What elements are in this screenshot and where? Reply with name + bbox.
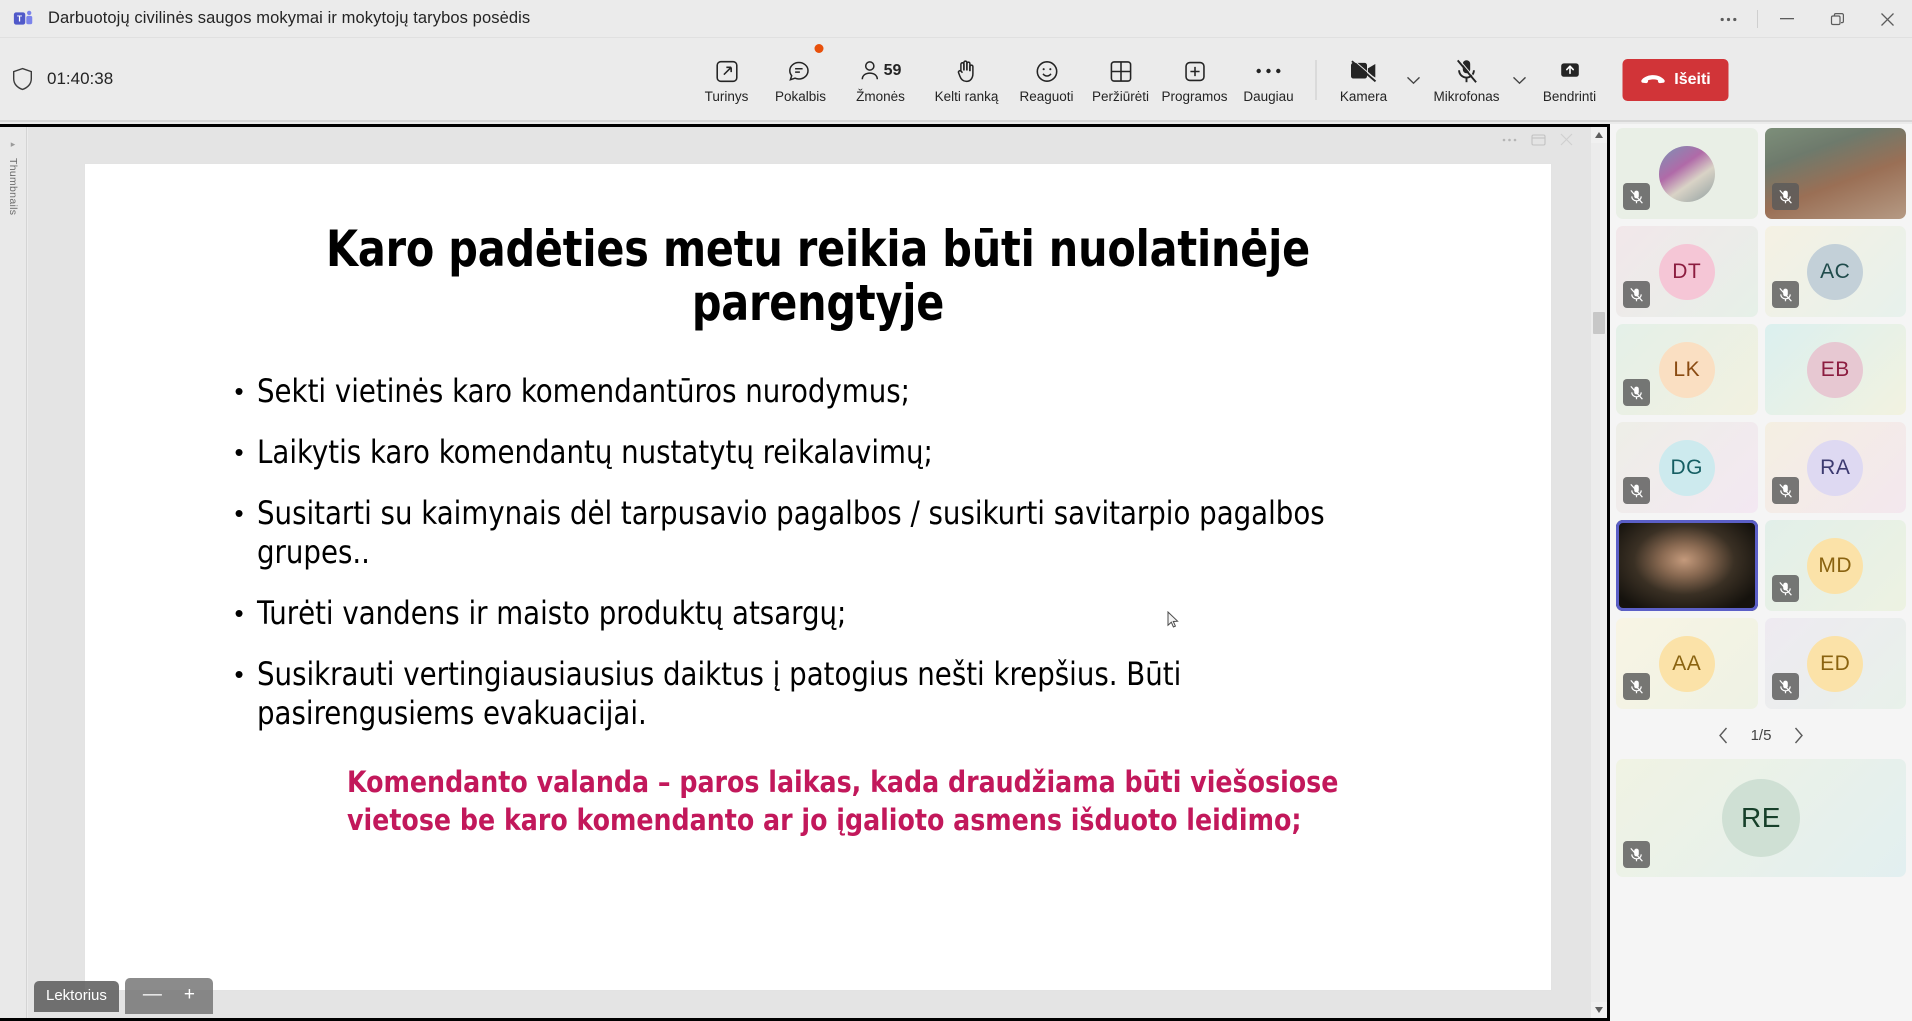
toolbar-label: Žmonės (856, 89, 905, 104)
participant-tile[interactable]: DG (1616, 422, 1758, 513)
bullet-text: Sekti vietinės karo komendantūros nurody… (257, 372, 910, 411)
avatar-initials: AA (1672, 652, 1701, 676)
meeting-timer: 01:40:38 (47, 69, 113, 89)
leave-button-label: Išeiti (1674, 71, 1710, 89)
avatar-initials: RE (1741, 802, 1781, 834)
bullet-text: Laikytis karo komendantų nustatytų reika… (257, 433, 933, 472)
more-ellipsis-icon (1256, 56, 1282, 86)
title-bar: T Darbuotojų civilinės saugos mokymai ir… (0, 0, 1912, 38)
popout-icon[interactable] (1531, 134, 1546, 146)
participants-grid: DT AC (1616, 128, 1906, 709)
microphone-dropdown-chevron-down-icon[interactable] (1507, 42, 1533, 118)
toolbar-button-pokalbis[interactable]: Pokalbis (764, 42, 838, 118)
avatar-initials: DG (1671, 456, 1704, 480)
chevron-left-icon[interactable] (1712, 723, 1735, 748)
chat-bubble-icon (788, 56, 814, 86)
toolbar-label: Mikrofonas (1433, 89, 1499, 104)
stage-bottom-controls: Lektorius — + (34, 978, 213, 1014)
participant-tile[interactable]: RA (1765, 422, 1907, 513)
avatar: EB (1807, 342, 1863, 398)
mic-muted-icon (1623, 477, 1650, 504)
toolbar-divider (1316, 60, 1317, 100)
slide-title: Karo padėties metu reikia būti nuolatinė… (198, 222, 1436, 330)
participant-tile[interactable] (1616, 128, 1758, 219)
avatar: ED (1807, 636, 1863, 692)
bullet-dot-icon: • (235, 439, 244, 465)
thumbnails-label: Thumbnails (7, 158, 19, 215)
avatar: DG (1659, 440, 1715, 496)
share-arrow-up-icon (1557, 56, 1582, 86)
toolbar-button-daugiau[interactable]: Daugiau (1232, 42, 1306, 118)
teams-logo-icon: T (12, 8, 34, 30)
presenter-pill[interactable]: Lektorius (34, 981, 119, 1012)
toolbar-button-zmones[interactable]: 59 Žmonės (838, 42, 924, 118)
apps-plus-icon (1182, 56, 1207, 86)
thumbnails-rail[interactable]: ▸ Thumbnails (0, 127, 27, 1018)
avatar: RE (1722, 779, 1800, 857)
mic-muted-icon (1772, 575, 1799, 602)
toolbar-label: Kamera (1340, 89, 1387, 104)
avatar-initials: DT (1672, 260, 1701, 284)
chevron-right-icon[interactable]: ▸ (11, 139, 16, 150)
avatar: MD (1807, 538, 1863, 594)
highlight-line: vietose be karo komendanto ar jo įgaliot… (347, 801, 1375, 839)
list-item: • Sekti vietinės karo komendantūros nuro… (235, 372, 1405, 411)
camera-dropdown-chevron-down-icon[interactable] (1401, 42, 1427, 118)
maximize-restore-button[interactable] (1812, 0, 1862, 38)
scroll-up-icon[interactable] (1591, 127, 1607, 143)
mic-muted-icon (1772, 673, 1799, 700)
reactions-smiley-icon (1034, 56, 1059, 86)
minimize-button[interactable] (1762, 0, 1812, 38)
slide-scrollbar[interactable] (1591, 127, 1607, 1018)
close-window-button[interactable] (1862, 0, 1912, 38)
list-item: • Turėti vandens ir maisto produktų atsa… (235, 594, 1405, 633)
participant-tile-spotlight[interactable]: RE (1616, 759, 1906, 877)
list-item: • Laikytis karo komendantų nustatytų rei… (235, 433, 1405, 472)
chevron-right-icon[interactable] (1787, 723, 1810, 748)
bullet-dot-icon: • (235, 661, 244, 687)
toolbar-label: Reaguoti (1019, 89, 1073, 104)
avatar-initials: AC (1820, 260, 1850, 284)
mic-muted-icon (1623, 379, 1650, 406)
shared-content-stage: ▸ Thumbnails (0, 124, 1610, 1021)
participant-tile[interactable]: DT (1616, 226, 1758, 317)
participants-pager: 1/5 (1616, 715, 1906, 755)
highlight-line: Komendanto valanda – paros laikas, kada … (347, 763, 1375, 801)
list-item: • Susitarti su kaimynais dėl tarpusavio … (235, 494, 1405, 572)
toolbar-button-bendrinti[interactable]: Bendrinti (1533, 42, 1607, 118)
mic-muted-icon (1623, 841, 1650, 868)
avatar-initials: EB (1821, 358, 1850, 382)
chat-unread-badge (815, 44, 824, 53)
slide-highlight-note: Komendanto valanda – paros laikas, kada … (347, 763, 1407, 840)
window-controls (1703, 0, 1912, 38)
participant-tile[interactable]: MD (1765, 520, 1907, 611)
window-title: Darbuotojų civilinės saugos mokymai ir m… (48, 9, 530, 28)
bullet-dot-icon: • (235, 600, 244, 626)
viewport-mini-controls (1502, 133, 1573, 146)
mic-muted-icon (1772, 477, 1799, 504)
bullet-text: Susikrauti vertingiausiausius daiktus į … (257, 655, 1359, 733)
toolbar-button-perziureti[interactable]: Peržiūrėti (1084, 42, 1158, 118)
mic-muted-icon (1772, 281, 1799, 308)
mic-muted-icon (1623, 281, 1650, 308)
participant-tile-active-speaker[interactable] (1616, 520, 1758, 611)
avatar: DT (1659, 244, 1715, 300)
close-icon[interactable] (1560, 133, 1573, 146)
more-ellipsis-icon[interactable] (1502, 138, 1517, 142)
avatar: LK (1659, 342, 1715, 398)
toolbar-button-programos[interactable]: Programos (1158, 42, 1232, 118)
slide-bullet-list: • Sekti vietinės karo komendantūros nuro… (235, 372, 1405, 733)
participants-panel: DT AC (1610, 124, 1912, 1021)
participant-count: 59 (884, 62, 902, 80)
toolbar-button-kelti-ranka[interactable]: Kelti ranką (924, 42, 1010, 118)
camera-off-icon (1349, 56, 1379, 86)
mic-muted-icon (1772, 183, 1799, 210)
mic-muted-icon (1623, 183, 1650, 210)
shield-icon (12, 67, 33, 91)
toolbar-button-kamera[interactable]: Kamera (1327, 42, 1401, 118)
toolbar-button-mikrofonas[interactable]: Mikrofonas (1427, 42, 1507, 118)
mic-muted-icon (1623, 673, 1650, 700)
toolbar-button-reaguoti[interactable]: Reaguoti (1010, 42, 1084, 118)
toolbar-label: Bendrinti (1543, 89, 1596, 104)
mic-off-icon (1454, 56, 1480, 86)
slide-viewport: Karo padėties metu reikia būti nuolatinė… (28, 127, 1607, 1018)
titlebar-divider (1757, 10, 1758, 28)
security-timer-group: 01:40:38 (12, 67, 113, 91)
toolbar-label: Kelti ranką (935, 89, 999, 104)
bullet-text: Susitarti su kaimynais dėl tarpusavio pa… (257, 494, 1359, 572)
scroll-down-icon[interactable] (1591, 1002, 1607, 1018)
toolbar-label: Peržiūrėti (1092, 89, 1149, 104)
avatar (1659, 146, 1715, 202)
toolbar-label: Programos (1161, 89, 1227, 104)
participant-tile[interactable]: EB (1765, 324, 1907, 415)
leave-meeting-button[interactable]: Išeiti (1623, 59, 1729, 101)
participant-tile[interactable]: LK (1616, 324, 1758, 415)
toolbar-label: Daugiau (1243, 89, 1293, 104)
participant-tile[interactable]: AA (1616, 618, 1758, 709)
share-content-icon (714, 56, 739, 86)
titlebar-more-button[interactable] (1703, 0, 1753, 38)
avatar-initials: RA (1820, 456, 1850, 480)
bullet-dot-icon: • (235, 500, 244, 526)
bullet-text: Turėti vandens ir maisto produktų atsarg… (257, 594, 846, 633)
view-grid-icon (1108, 56, 1133, 86)
zoom-controls: — + (125, 978, 213, 1014)
meeting-toolbar: 01:40:38 Turinys (0, 38, 1912, 122)
teams-meeting-window: T Darbuotojų civilinės saugos mokymai ir… (0, 0, 1912, 1021)
zoom-out-button[interactable]: — (143, 984, 162, 1006)
avatar: AA (1659, 636, 1715, 692)
avatar-initials: MD (1818, 554, 1852, 578)
toolbar-button-turinys[interactable]: Turinys (690, 42, 764, 118)
participant-tile[interactable] (1765, 128, 1907, 219)
presented-slide: Karo padėties metu reikia būti nuolatinė… (84, 163, 1552, 991)
avatar: AC (1807, 244, 1863, 300)
avatar-initials: LK (1673, 358, 1700, 382)
svg-text:T: T (17, 14, 22, 24)
pager-label: 1/5 (1751, 727, 1772, 744)
zoom-in-button[interactable]: + (184, 984, 195, 1006)
stage-inner: ▸ Thumbnails (0, 127, 1607, 1018)
hangup-phone-icon (1640, 74, 1665, 87)
raise-hand-icon (955, 56, 979, 86)
participant-tile[interactable]: ED (1765, 618, 1907, 709)
list-item: • Susikrauti vertingiausiausius daiktus … (235, 655, 1405, 733)
toolbar-actions: Turinys Pokalbis (690, 38, 1743, 122)
avatar-initials: ED (1820, 652, 1850, 676)
participant-tile[interactable]: AC (1765, 226, 1907, 317)
scrollbar-thumb[interactable] (1593, 312, 1605, 334)
people-icon: 59 (860, 56, 902, 86)
toolbar-label: Turinys (705, 89, 749, 104)
toolbar-label: Pokalbis (775, 89, 826, 104)
bullet-dot-icon: • (235, 378, 244, 404)
avatar: RA (1807, 440, 1863, 496)
